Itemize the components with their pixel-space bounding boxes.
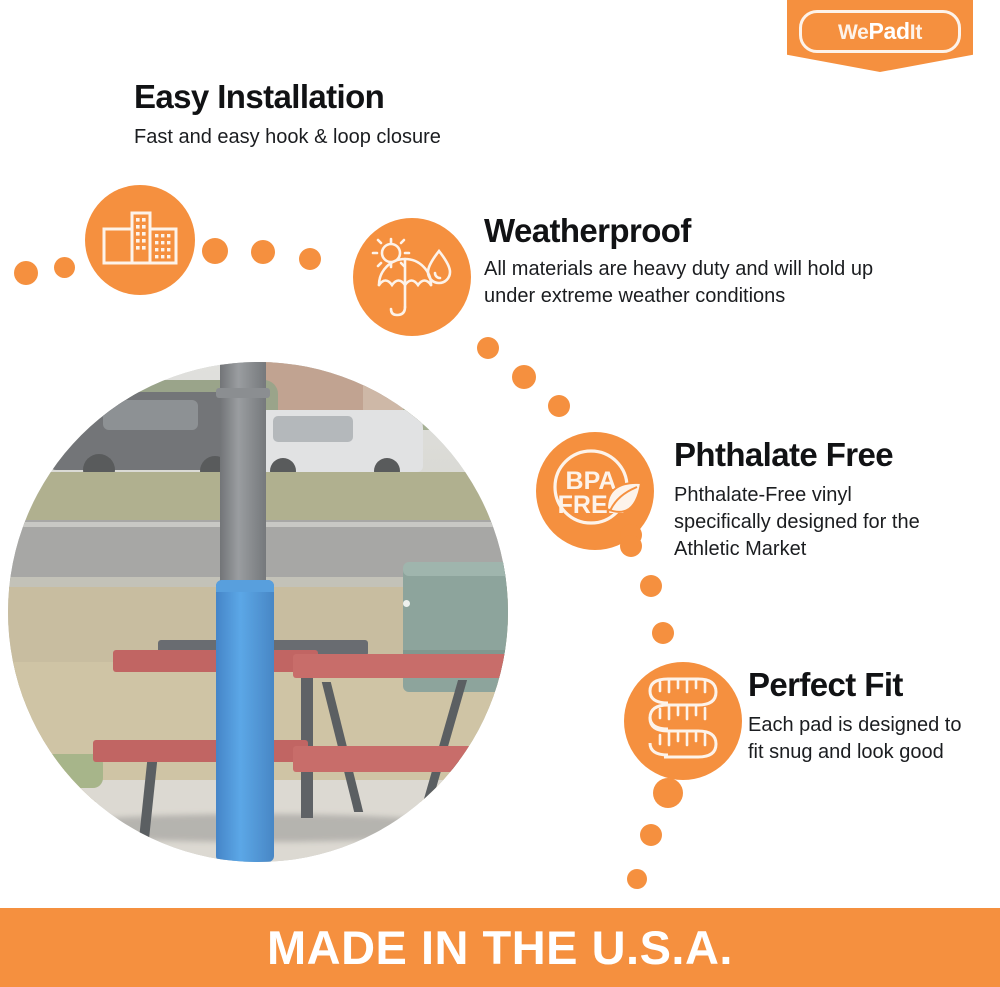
feature-description-easy-installation: Fast and easy hook & loop closure: [134, 124, 554, 151]
brand-logo: WePadIt: [787, 0, 973, 72]
measuring-tape-icon: [624, 662, 742, 780]
logo-text-it: It: [910, 21, 922, 44]
logo-text: WePadIt: [838, 20, 922, 43]
path-dot: [477, 337, 499, 359]
made-in-usa-banner: MADE IN THE U.S.A.: [0, 908, 1000, 987]
bpa-free-leaf-icon: BPA FREE: [536, 432, 654, 550]
feature-title-easy-installation: Easy Installation: [134, 80, 384, 115]
logo-text-we: We: [838, 21, 869, 44]
feature-title-phthalate-free: Phthalate Free: [674, 438, 893, 473]
feature-description-weatherproof: All materials are heavy duty and will ho…: [484, 256, 904, 310]
path-dot: [653, 778, 683, 808]
photo-haze-overlay: [8, 362, 508, 862]
path-dot: [640, 575, 662, 597]
logo-text-pad: Pad: [869, 18, 910, 44]
path-dot: [548, 395, 570, 417]
path-dot: [627, 869, 647, 889]
path-dot: [299, 248, 321, 270]
path-dot: [54, 257, 75, 278]
product-photo-pole-pad: [8, 362, 508, 862]
feature-title-perfect-fit: Perfect Fit: [748, 668, 903, 703]
feature-title-weatherproof: Weatherproof: [484, 214, 691, 249]
logo-outline-box: WePadIt: [799, 10, 961, 53]
path-dot: [14, 261, 38, 285]
sun-umbrella-raindrop-icon: [353, 218, 471, 336]
infographic-page: WePadIt Easy Installation Fast and easy …: [0, 0, 1000, 987]
feature-description-phthalate-free: Phthalate-Free vinyl specifically design…: [674, 482, 934, 563]
made-in-usa-text: MADE IN THE U.S.A.: [267, 924, 733, 971]
path-dot: [251, 240, 275, 264]
path-dot: [512, 365, 536, 389]
path-dot: [640, 824, 662, 846]
path-dot: [620, 535, 642, 557]
path-dot: [202, 238, 228, 264]
feature-description-perfect-fit: Each pad is designed to fit snug and loo…: [748, 712, 973, 766]
building-installation-icon: [85, 185, 195, 295]
path-dot: [652, 622, 674, 644]
